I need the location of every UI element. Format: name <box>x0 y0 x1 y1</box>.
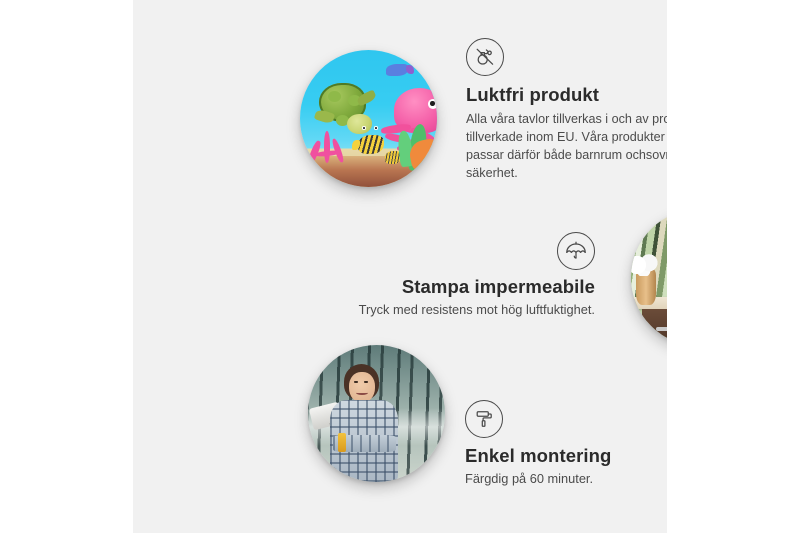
content-panel: Luktfri produkt Alla våra tavlor tillver… <box>133 0 667 533</box>
feature-title: Stampa impermeabile <box>313 276 595 298</box>
feature-body: Alla våra tavlor tillverkas i och av pro… <box>466 111 667 183</box>
umbrella-icon <box>557 232 595 270</box>
underwater-cartoon-photo <box>300 50 437 187</box>
feature-body: Färgdig på 60 minuter. <box>465 470 667 488</box>
feature-block-waterproof: Stampa impermeabile Tryck med resistens … <box>313 232 595 319</box>
screenshot-root: Luktfri produkt Alla våra tavlor tillver… <box>0 0 800 533</box>
feature-title: Luktfri produkt <box>466 84 667 106</box>
paint-roller-icon <box>465 400 503 438</box>
feature-block-mounting: Enkel montering Färgdig på 60 minuter. <box>465 400 667 488</box>
feature-title: Enkel montering <box>465 445 667 467</box>
feature-block-odourless: Luktfri produkt Alla våra tavlor tillver… <box>466 38 667 183</box>
feature-body: Tryck med resistens mot hög luftfuktighe… <box>313 301 595 319</box>
woman-with-paint-roller-photo <box>308 345 445 482</box>
bathroom-interior-photo <box>631 209 667 346</box>
no-odour-spray-bottle-icon <box>466 38 504 76</box>
